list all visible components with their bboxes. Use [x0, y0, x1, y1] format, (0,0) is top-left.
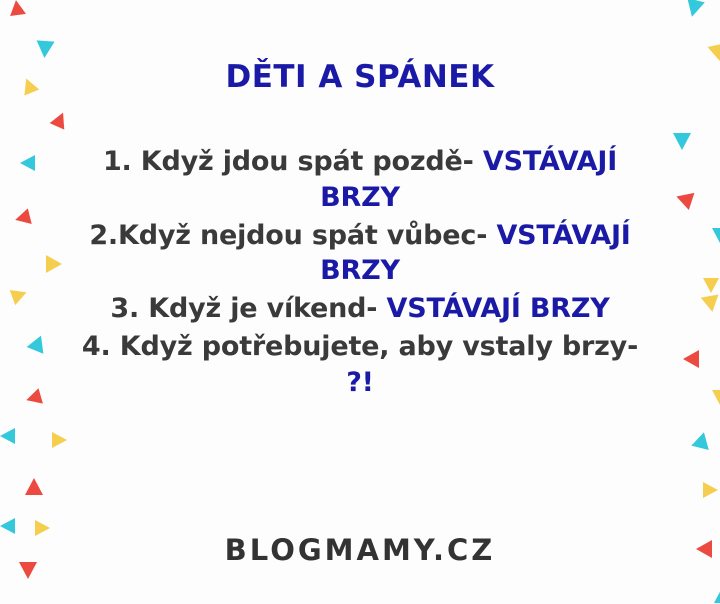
- list-item: 3. Když je víkend- VSTÁVAJÍ BRZY: [70, 291, 650, 327]
- tips-list: 1. Když jdou spát pozdě- VSTÁVAJÍ BRZY 2…: [70, 144, 650, 403]
- list-item: 1. Když jdou spát pozdě- VSTÁVAJÍ BRZY: [70, 144, 650, 216]
- list-item-lead: 1. Když jdou spát pozdě-: [103, 146, 474, 177]
- poster-content: DĚTI A SPÁNEK 1. Když jdou spát pozdě- V…: [0, 0, 720, 604]
- brand-watermark: BLOGMAMY.CZ: [0, 533, 720, 567]
- poster-canvas: DĚTI A SPÁNEK 1. Když jdou spát pozdě- V…: [0, 0, 720, 604]
- list-item: 2.Když nejdou spát vůbec- VSTÁVAJÍ BRZY: [70, 218, 650, 290]
- list-item: 4. Když potřebujete, aby vstaly brzy- ?!: [70, 329, 650, 401]
- list-item-lead: 3. Když je víkend-: [110, 293, 377, 324]
- page-title: DĚTI A SPÁNEK: [225, 62, 494, 93]
- list-item-lead: 2.Když nejdou spát vůbec-: [89, 220, 487, 251]
- list-item-lead: 4. Když potřebujete, aby vstaly brzy-: [82, 331, 638, 362]
- list-item-highlight: VSTÁVAJÍ BRZY: [387, 293, 610, 324]
- list-item-highlight: ?!: [346, 367, 374, 398]
